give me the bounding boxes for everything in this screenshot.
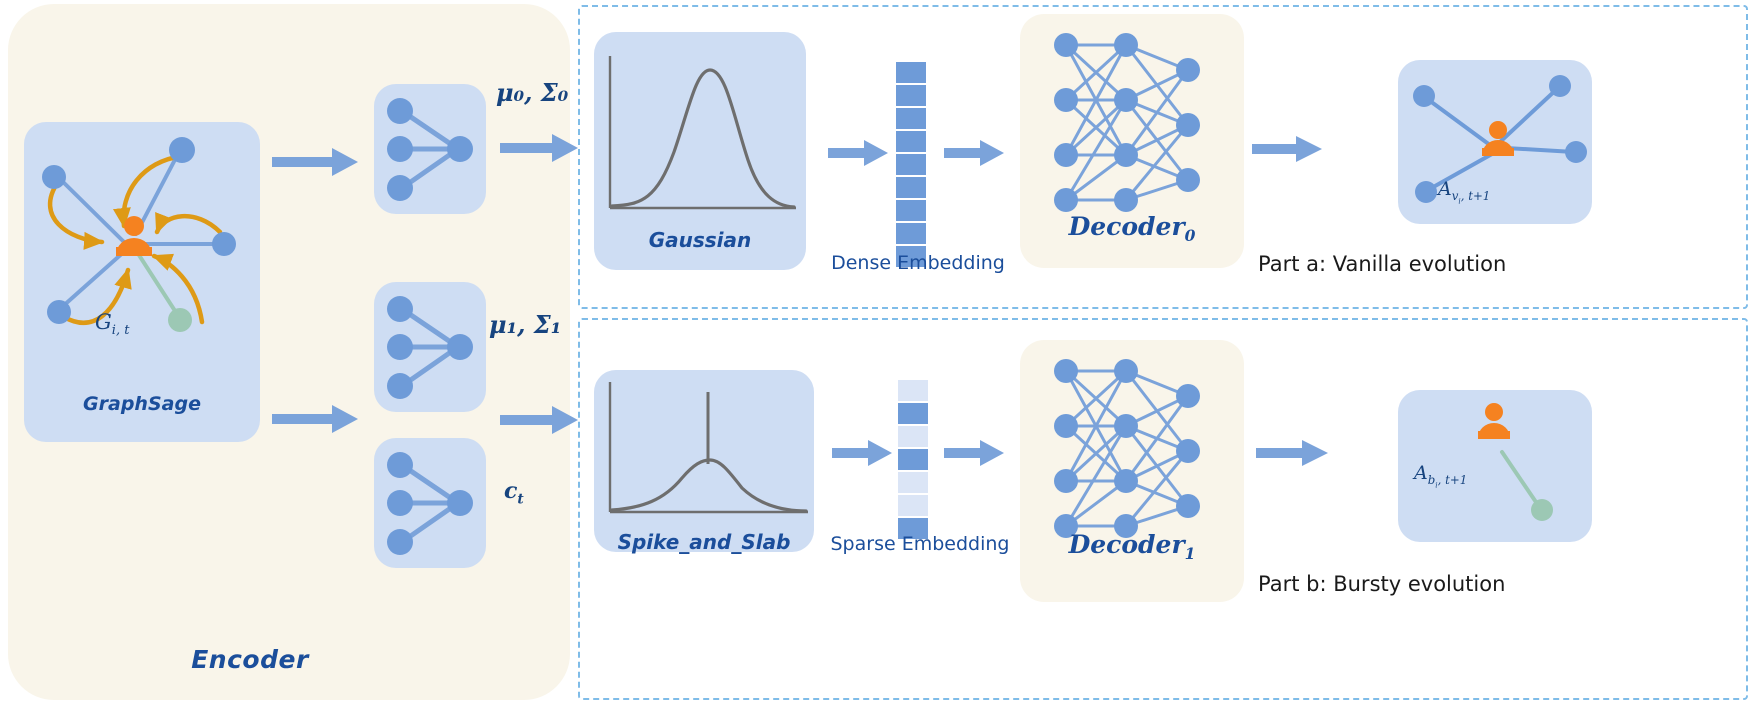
sparse-embedding-cell <box>898 403 928 424</box>
diagram-canvas: Gi, t GraphSage Encoder μ₀, Σ₀ μ₁, Σ₁ ct <box>0 0 1752 703</box>
sparse-embedding-cell <box>898 449 928 470</box>
dense-embedding-cell <box>896 62 926 83</box>
sparse-embedding-cell <box>898 495 928 516</box>
mu-sigma-1-label: μ₁, Σ₁ <box>489 310 561 339</box>
dense-embedding-cell <box>896 223 926 244</box>
spike-and-slab-label: Spike_and_Slab <box>594 530 814 554</box>
gaussian-label: Gaussian <box>594 228 806 252</box>
dense-embedding-cell <box>896 108 926 129</box>
dense-embedding-column <box>896 62 926 269</box>
spike-and-slab-panel <box>594 370 814 552</box>
sparse-embedding-cell <box>898 426 928 447</box>
sparse-embedding-cell <box>898 472 928 493</box>
graphsage-label: GraphSage <box>24 393 260 415</box>
dense-embedding-cell <box>896 85 926 106</box>
output-a-label: Avi, t+1 <box>1438 178 1490 205</box>
sparse-embedding-label: Sparse Embedding <box>824 533 1016 555</box>
sparse-embedding-column <box>898 380 928 541</box>
dense-embedding-cell <box>896 200 926 221</box>
part-b-caption: Part b: Bursty evolution <box>1258 572 1505 596</box>
decoder1-label: Decoder1 <box>1020 530 1244 563</box>
dense-embedding-cell <box>896 177 926 198</box>
dense-embedding-label: Dense Embedding <box>826 252 1010 274</box>
part-a-caption: Part a: Vanilla evolution <box>1258 252 1506 276</box>
tree-graph-panel-2 <box>374 438 486 568</box>
output-b-label: Abi, t+1 <box>1414 462 1467 489</box>
encoder-label: Encoder <box>150 645 350 674</box>
mu-sigma-0-label: μ₀, Σ₀ <box>496 78 568 107</box>
sparse-embedding-cell <box>898 380 928 401</box>
dense-embedding-cell <box>896 154 926 175</box>
output-a-panel <box>1398 60 1592 224</box>
tree-graph-panel-1 <box>374 282 486 412</box>
tree-graph-panel-0 <box>374 84 486 214</box>
graph-symbol-label: Gi, t <box>95 310 129 338</box>
dense-embedding-cell <box>896 131 926 152</box>
decoder0-label: Decoder0 <box>1020 212 1244 245</box>
context-label: ct <box>504 478 524 507</box>
